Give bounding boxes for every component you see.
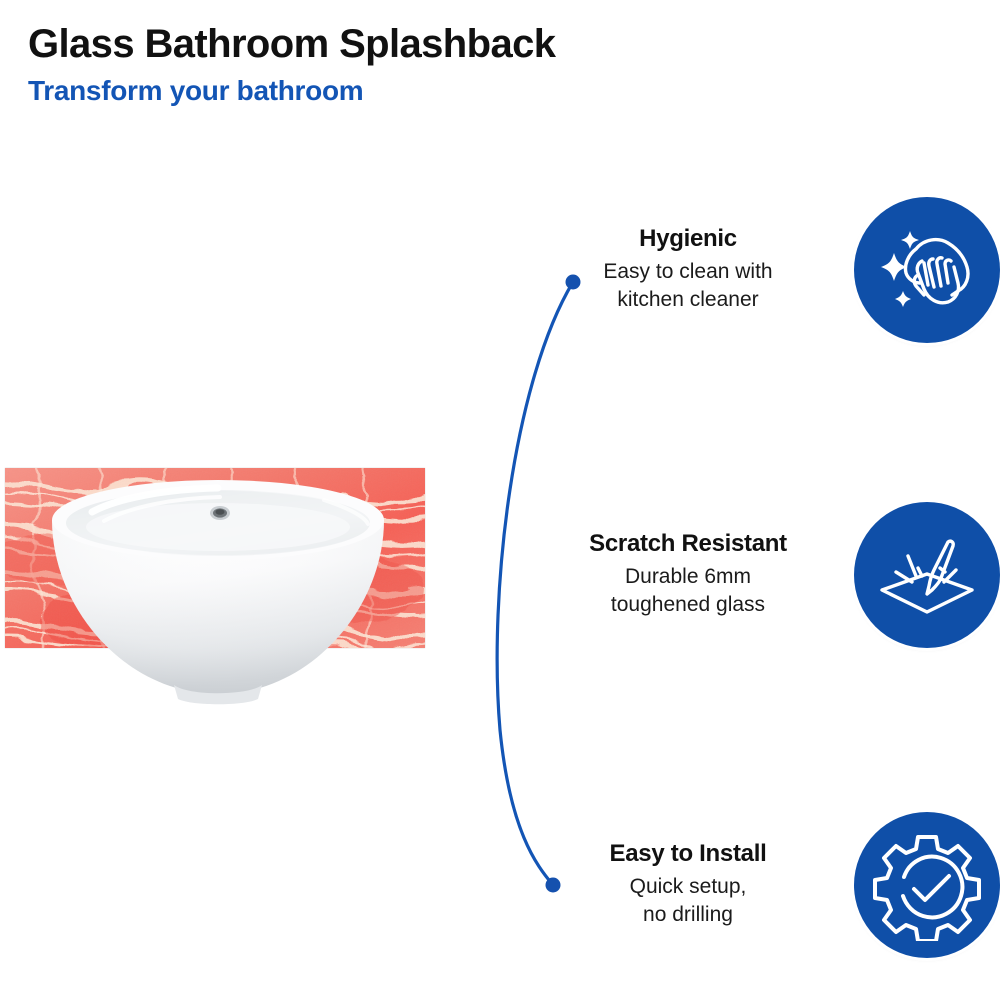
feature-description: Durable 6mm toughened glass [538,563,838,620]
feature-hygienic: Hygienic Easy to clean with kitchen clea… [510,195,1000,345]
feature-title: Hygienic [538,225,838,254]
feature-desc-line: kitchen cleaner [617,288,758,311]
feature-desc-line: no drilling [643,903,733,926]
feature-text: Hygienic Easy to clean with kitchen clea… [538,225,854,314]
feature-desc-line: Quick setup, [630,875,747,898]
knife-scratch-surface-icon [854,502,1000,648]
feature-easy-to-install: Easy to Install Quick setup, no drilling [510,810,1000,960]
feature-scratch-resistant: Scratch Resistant Durable 6mm toughened … [510,500,1000,650]
feature-description: Quick setup, no drilling [538,873,838,930]
feature-text: Scratch Resistant Durable 6mm toughened … [538,530,854,619]
feature-text: Easy to Install Quick setup, no drilling [538,840,854,929]
feature-title: Scratch Resistant [538,530,838,559]
basin [48,480,388,760]
feature-desc-line: Durable 6mm [625,565,751,588]
feature-title: Easy to Install [538,840,838,869]
gear-checkmark-icon [854,812,1000,958]
feature-description: Easy to clean with kitchen cleaner [538,258,838,315]
hand-wiping-sparkle-icon [854,197,1000,343]
feature-desc-line: Easy to clean with [603,260,772,283]
feature-desc-line: toughened glass [611,593,765,616]
product-photo [0,0,440,340]
